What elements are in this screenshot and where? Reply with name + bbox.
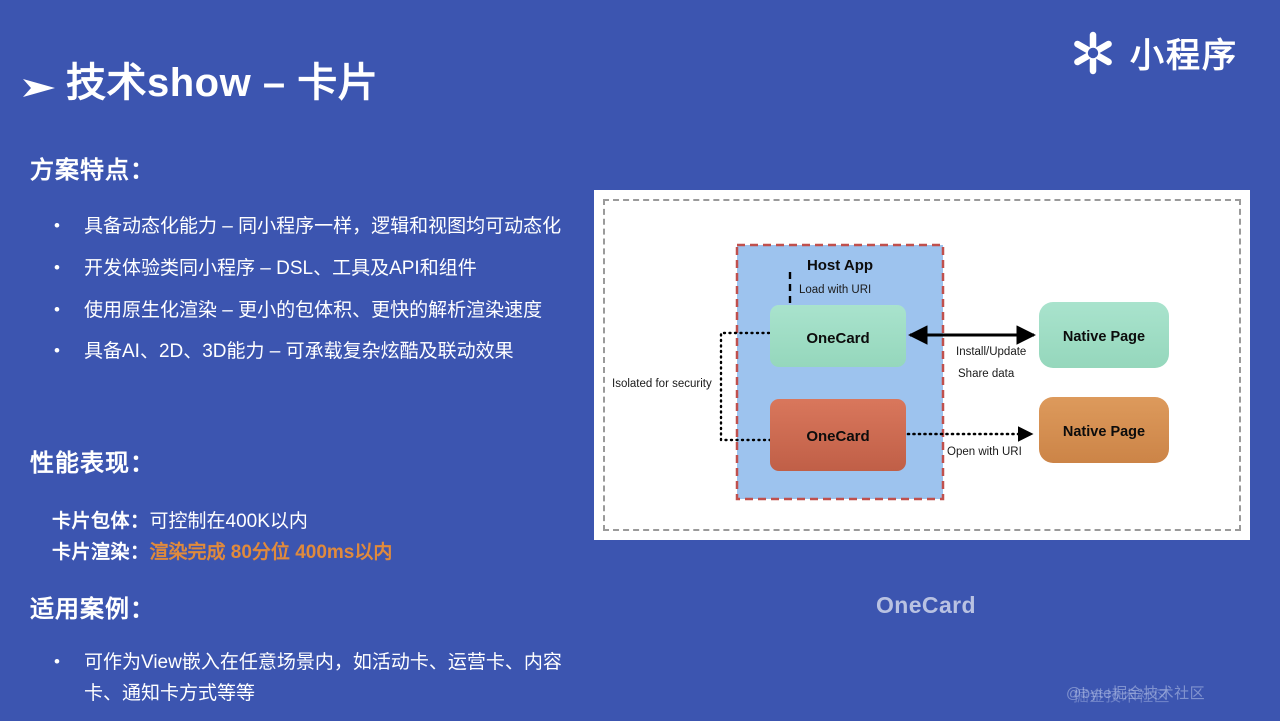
arrow-right-icon [22,66,56,92]
diagram-canvas: Host App Load with URI Isolated for secu… [594,190,1250,540]
bullet-dot-icon: • [48,337,84,365]
section-heading-features: 方案特点： [30,150,155,185]
watermark: @byte掘金技术社区 掘金技术社区 [1066,682,1266,712]
onecard-green-label: OneCard [806,330,869,347]
usecases-list: • 可作为View嵌入在任意场景内，如活动卡、运营卡、内容卡、通知卡方式等等 [48,648,568,721]
native-page-green-label: Native Page [1063,329,1145,345]
edge-label-share-data: Share data [958,368,1015,380]
metric-value-highlighted: 渲染完成 80分位 400ms以内 [150,539,393,568]
bullet-dot-icon: • [48,254,84,282]
diagram-caption: OneCard [876,592,976,619]
edge-label-load-with-uri: Load with URI [799,284,871,296]
page-title: 技术show – 卡片 [22,50,378,108]
features-list: • 具备动态化能力 – 同小程序一样，逻辑和视图均可动态化 • 开发体验类同小程… [48,212,568,379]
architecture-diagram: Host App Load with URI Isolated for secu… [594,190,1250,540]
onecard-red-box: OneCard [770,399,906,471]
list-item-label: 开发体验类同小程序 – DSL、工具及API和组件 [84,254,568,285]
onecard-green-box: OneCard [770,305,906,367]
bullet-dot-icon: • [48,648,84,676]
performance-metric-row: 卡片包体： 可控制在400K以内 [52,508,572,537]
bullet-dot-icon: • [48,296,84,324]
list-item-label: 具备动态化能力 – 同小程序一样，逻辑和视图均可动态化 [84,212,568,243]
edge-label-open-with-uri: Open with URI [947,446,1022,458]
list-item: • 具备AI、2D、3D能力 – 可承载复杂炫酷及联动效果 [48,337,568,368]
list-item: • 开发体验类同小程序 – DSL、工具及API和组件 [48,254,568,285]
metric-label: 卡片包体： [52,508,150,537]
list-item-label: 具备AI、2D、3D能力 – 可承载复杂炫酷及联动效果 [84,337,568,368]
native-page-orange-label: Native Page [1063,424,1145,440]
asterisk-star-icon [1070,30,1116,76]
native-page-orange-box: Native Page [1039,397,1169,463]
section-heading-performance: 性能表现： [30,443,155,478]
brand-logo: 小程序 [1070,28,1238,77]
edge-label-isolated-for-security: Isolated for security [612,378,712,390]
list-item: • 可作为View嵌入在任意场景内，如活动卡、运营卡、内容卡、通知卡方式等等 [48,648,568,710]
edge-label-install-update: Install/Update [956,346,1026,358]
brand-name: 小程序 [1130,28,1238,77]
list-item: • 使用原生化渲染 – 更小的包体积、更快的解析渲染速度 [48,296,568,327]
metric-label: 卡片渲染： [52,539,150,568]
page-title-text: 技术show – 卡片 [66,50,378,108]
performance-metric-row: 卡片渲染： 渲染完成 80分位 400ms以内 [52,539,572,568]
onecard-red-label: OneCard [806,428,869,445]
performance-metrics: 卡片包体： 可控制在400K以内 卡片渲染： 渲染完成 80分位 400ms以内 [52,508,572,569]
list-item: • 具备动态化能力 – 同小程序一样，逻辑和视图均可动态化 [48,212,568,243]
bullet-dot-icon: • [48,212,84,240]
watermark-text-back: 掘金技术社区 [1073,685,1170,706]
host-app-label: Host App [807,257,873,274]
list-item-label: 可作为View嵌入在任意场景内，如活动卡、运营卡、内容卡、通知卡方式等等 [84,648,568,710]
list-item-label: 使用原生化渲染 – 更小的包体积、更快的解析渲染速度 [84,296,568,327]
metric-value: 可控制在400K以内 [150,508,308,537]
section-heading-usecases: 适用案例： [30,589,155,624]
native-page-green-box: Native Page [1039,302,1169,368]
